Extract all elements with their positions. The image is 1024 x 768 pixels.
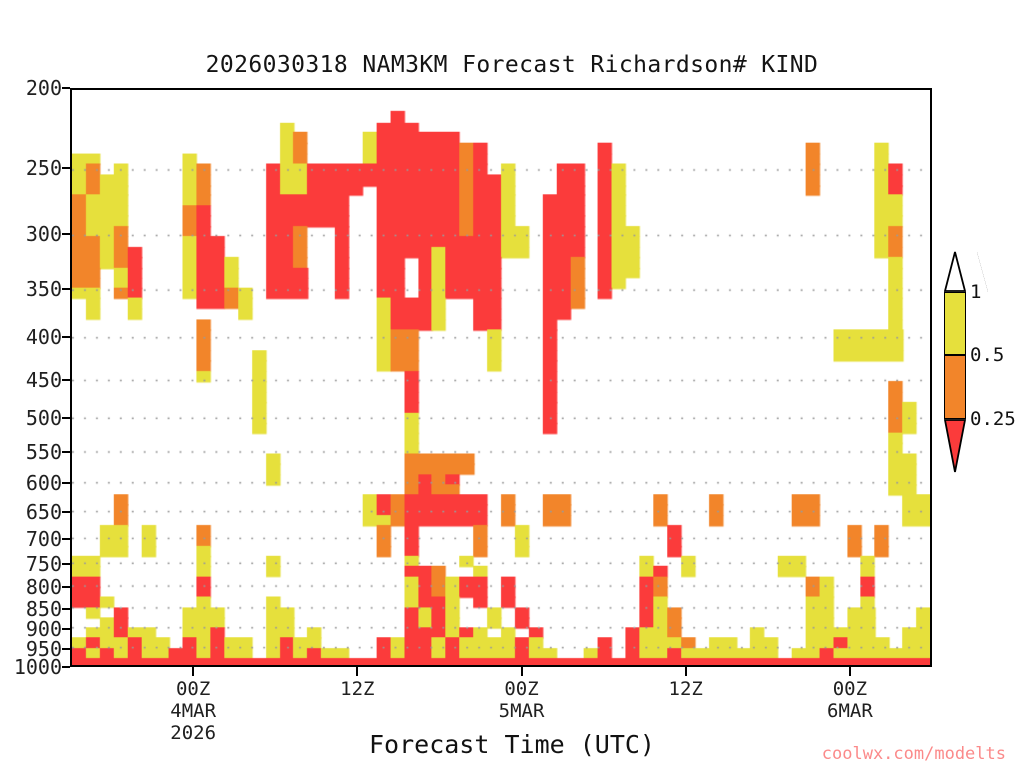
x-axis-tick-label: 12Z	[340, 678, 374, 700]
y-axis-tick-mark	[62, 563, 70, 565]
y-axis-tick-mark	[62, 167, 70, 169]
x-axis-tick-label: 12Z	[669, 678, 703, 700]
y-axis-tick-mark	[62, 511, 70, 513]
y-axis-tick-mark	[62, 538, 70, 540]
y-axis-tick-label: 600	[26, 471, 62, 495]
x-axis-tick-line: 5MAR	[499, 700, 545, 722]
y-axis-tick-label: 250	[26, 156, 62, 180]
chart-root: 2026030318 NAM3KM Forecast Richardson# K…	[0, 0, 1024, 768]
x-axis-tick-line: 12Z	[340, 678, 374, 700]
y-axis-tick-mark	[62, 666, 70, 668]
richardson-heatmap-canvas	[72, 90, 930, 665]
y-axis-tick-mark	[62, 608, 70, 610]
y-axis-tick-label: 800	[26, 575, 62, 599]
y-axis-tick-label: 300	[26, 222, 62, 246]
x-axis-tick-label: 00Z5MAR	[499, 678, 545, 722]
y-axis-tick-mark	[62, 628, 70, 630]
chart-title: 2026030318 NAM3KM Forecast Richardson# K…	[0, 52, 1024, 78]
colorbar-legend: 10.50.25	[944, 292, 966, 482]
y-axis-tick-label: 750	[26, 552, 62, 576]
colorbar-cap-outline-top	[944, 251, 966, 292]
y-axis-tick-mark	[62, 288, 70, 290]
watermark: coolwx.com/modelts	[822, 744, 1006, 764]
y-axis-tick-label: 350	[26, 277, 62, 301]
y-axis-pressure: 2002503003504004505005506006507007508008…	[0, 88, 62, 667]
x-axis-tick-line: 00Z	[170, 678, 216, 700]
colorbar-tick-label: 0.5	[970, 344, 1004, 366]
colorbar-cap-below-0.25	[944, 419, 966, 473]
y-axis-tick-label: 400	[26, 325, 62, 349]
y-axis-tick-label: 550	[26, 440, 62, 464]
heatmap-plot-area	[70, 88, 932, 667]
y-axis-tick-mark	[62, 233, 70, 235]
x-axis-tick-line: 4MAR	[170, 700, 216, 722]
y-axis-tick-mark	[62, 482, 70, 484]
x-axis-tick-mark	[521, 667, 523, 676]
x-axis-tick-line: 12Z	[669, 678, 703, 700]
y-axis-tick-label: 500	[26, 406, 62, 430]
y-axis-tick-label: 700	[26, 527, 62, 551]
y-axis-tick-label: 200	[26, 76, 62, 100]
y-axis-tick-mark	[62, 451, 70, 453]
x-axis-tick-mark	[356, 667, 358, 676]
y-axis-tick-mark	[62, 417, 70, 419]
x-axis-tick-mark	[849, 667, 851, 676]
x-axis-tick-line: 00Z	[499, 678, 545, 700]
y-axis-tick-label: 450	[26, 368, 62, 392]
y-axis-tick-mark	[62, 648, 70, 650]
y-axis-tick-label: 650	[26, 500, 62, 524]
x-axis-tick-label: 00Z6MAR	[827, 678, 873, 722]
x-axis-tick-mark	[685, 667, 687, 676]
colorbar-segment-0.25-to-0.5	[944, 355, 966, 418]
colorbar-segment-0.5-to-1	[944, 292, 966, 355]
x-axis-tick-line: 6MAR	[827, 700, 873, 722]
colorbar-tick-label: 0.25	[970, 408, 1016, 430]
y-axis-tick-mark	[62, 87, 70, 89]
x-axis-tick-line: 00Z	[827, 678, 873, 700]
y-axis-tick-mark	[62, 336, 70, 338]
y-axis-tick-mark	[62, 586, 70, 588]
y-axis-tick-label: 1000	[14, 655, 62, 679]
colorbar-tick-label: 1	[970, 281, 981, 303]
y-axis-tick-mark	[62, 379, 70, 381]
x-axis-tick-mark	[192, 667, 194, 676]
